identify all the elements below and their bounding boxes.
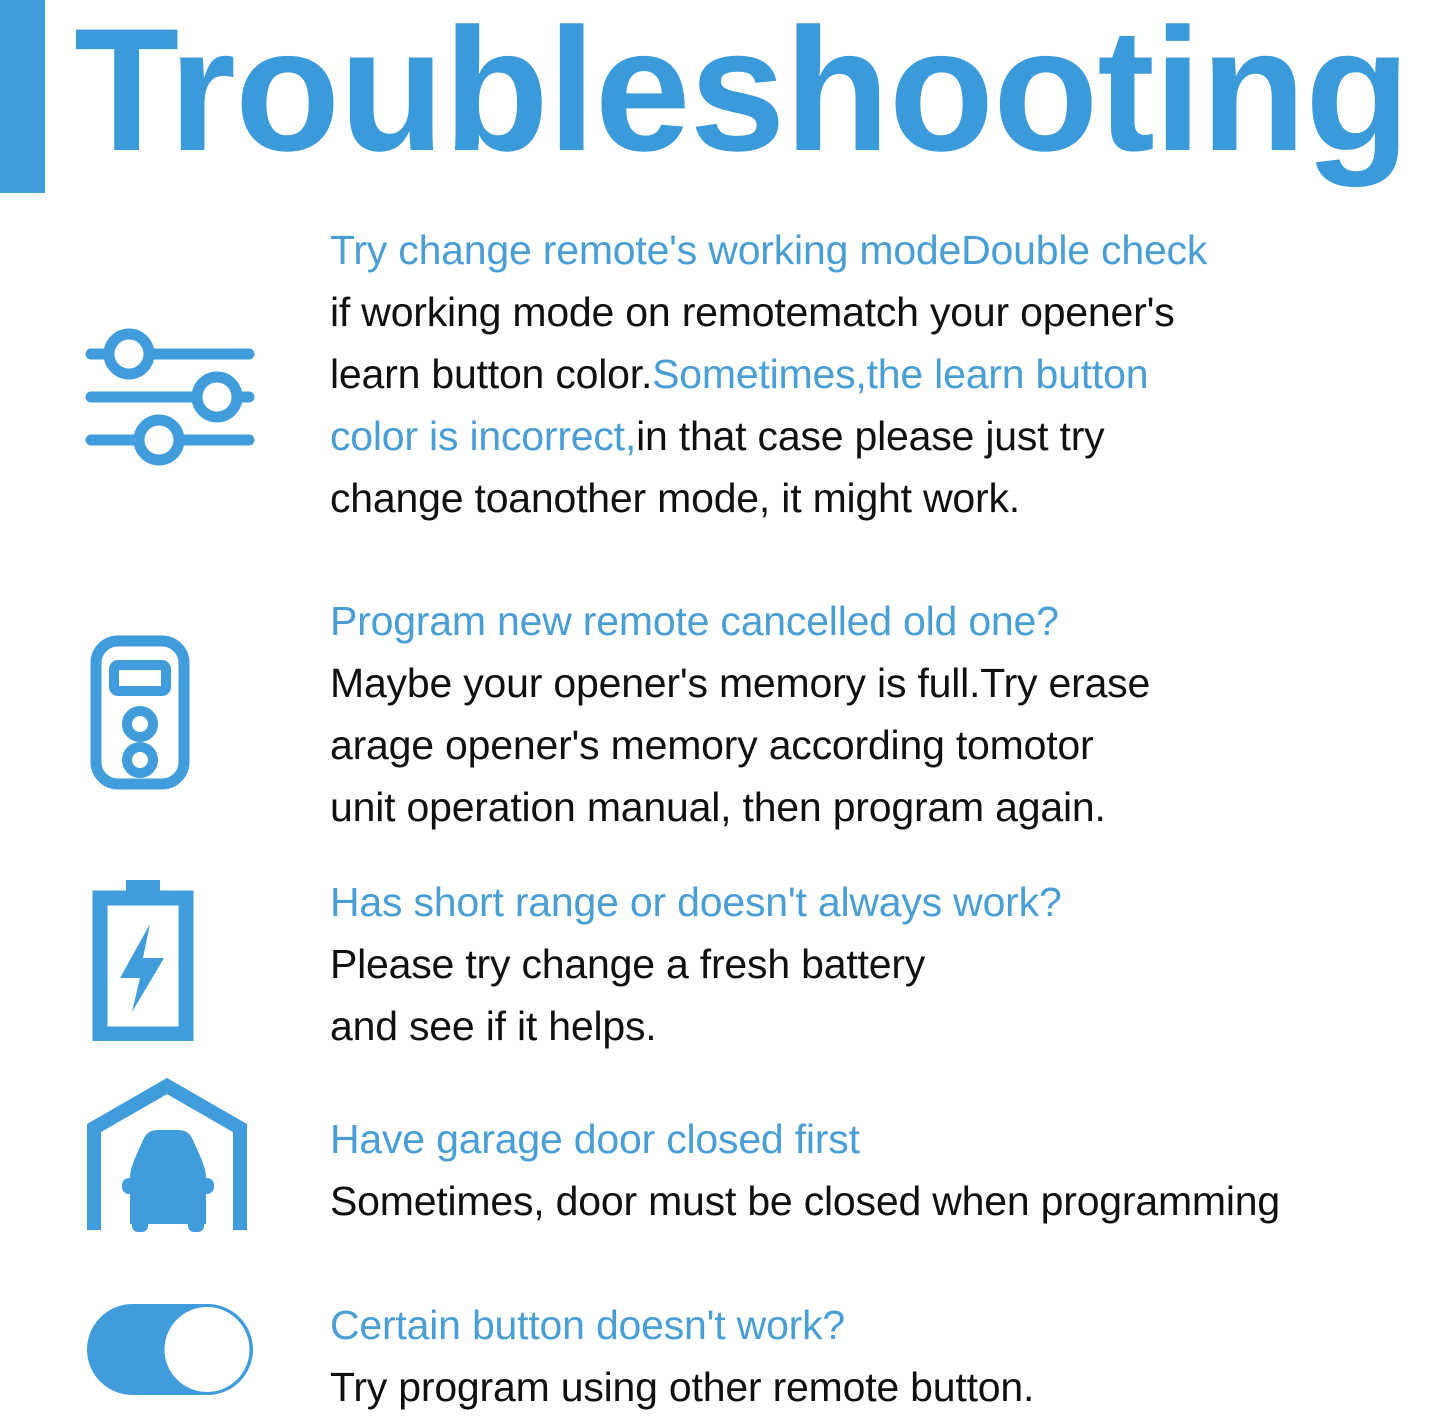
tip-text-short-range: Has short range or doesn't always work? … [330,871,1445,1057]
tip-line-3: arage opener's memory according tomotor [330,722,1093,768]
tip-text-door-closed: Have garage door closed first Sometimes,… [330,1108,1445,1232]
tip-line-3a: learn button color. [330,351,652,397]
tip-line-2: Please try change a fresh battery [330,941,925,987]
tip-line-4b: in that case please just try [636,413,1104,459]
tip-text-working-mode: Try change remote's working modeDouble c… [330,219,1445,529]
tip-heading: Have garage door closed first [330,1116,860,1162]
remote-icon [90,635,190,790]
tip-line-3: and see if it helps. [330,1003,656,1049]
sliders-icon [85,322,255,472]
page-title: Troubleshooting [74,0,1409,191]
tip-heading: Try change remote's working modeDouble c… [330,227,1207,273]
tip-heading: Certain button doesn't work? [330,1302,845,1348]
garage-car-icon [82,1078,252,1238]
tip-line-3b: Sometimes,the learn button [652,351,1148,397]
tip-heading: Has short range or doesn't always work? [330,879,1062,925]
tip-line-4: unit operation manual, then program agai… [330,784,1106,830]
tip-line-2: Sometimes, door must be closed when prog… [330,1178,1280,1224]
tip-line-2: Maybe your opener's memory is full.Try e… [330,660,1150,706]
tip-text-button-broken: Certain button doesn't work? Try program… [330,1294,1445,1418]
toggle-switch-on-icon [85,1302,255,1397]
tip-line-5: change toanother mode, it might work. [330,475,1020,521]
tip-line-4a: color is incorrect, [330,413,636,459]
tip-line-2: Try program using other remote button. [330,1364,1034,1410]
tip-line-2: if working mode on remotematch your open… [330,289,1175,335]
header-accent-bar [0,0,45,193]
page-header: Troubleshooting [0,0,1445,200]
tip-heading: Program new remote cancelled old one? [330,598,1059,644]
tip-text-memory-full: Program new remote cancelled old one? Ma… [330,590,1445,838]
battery-icon [88,876,198,1041]
